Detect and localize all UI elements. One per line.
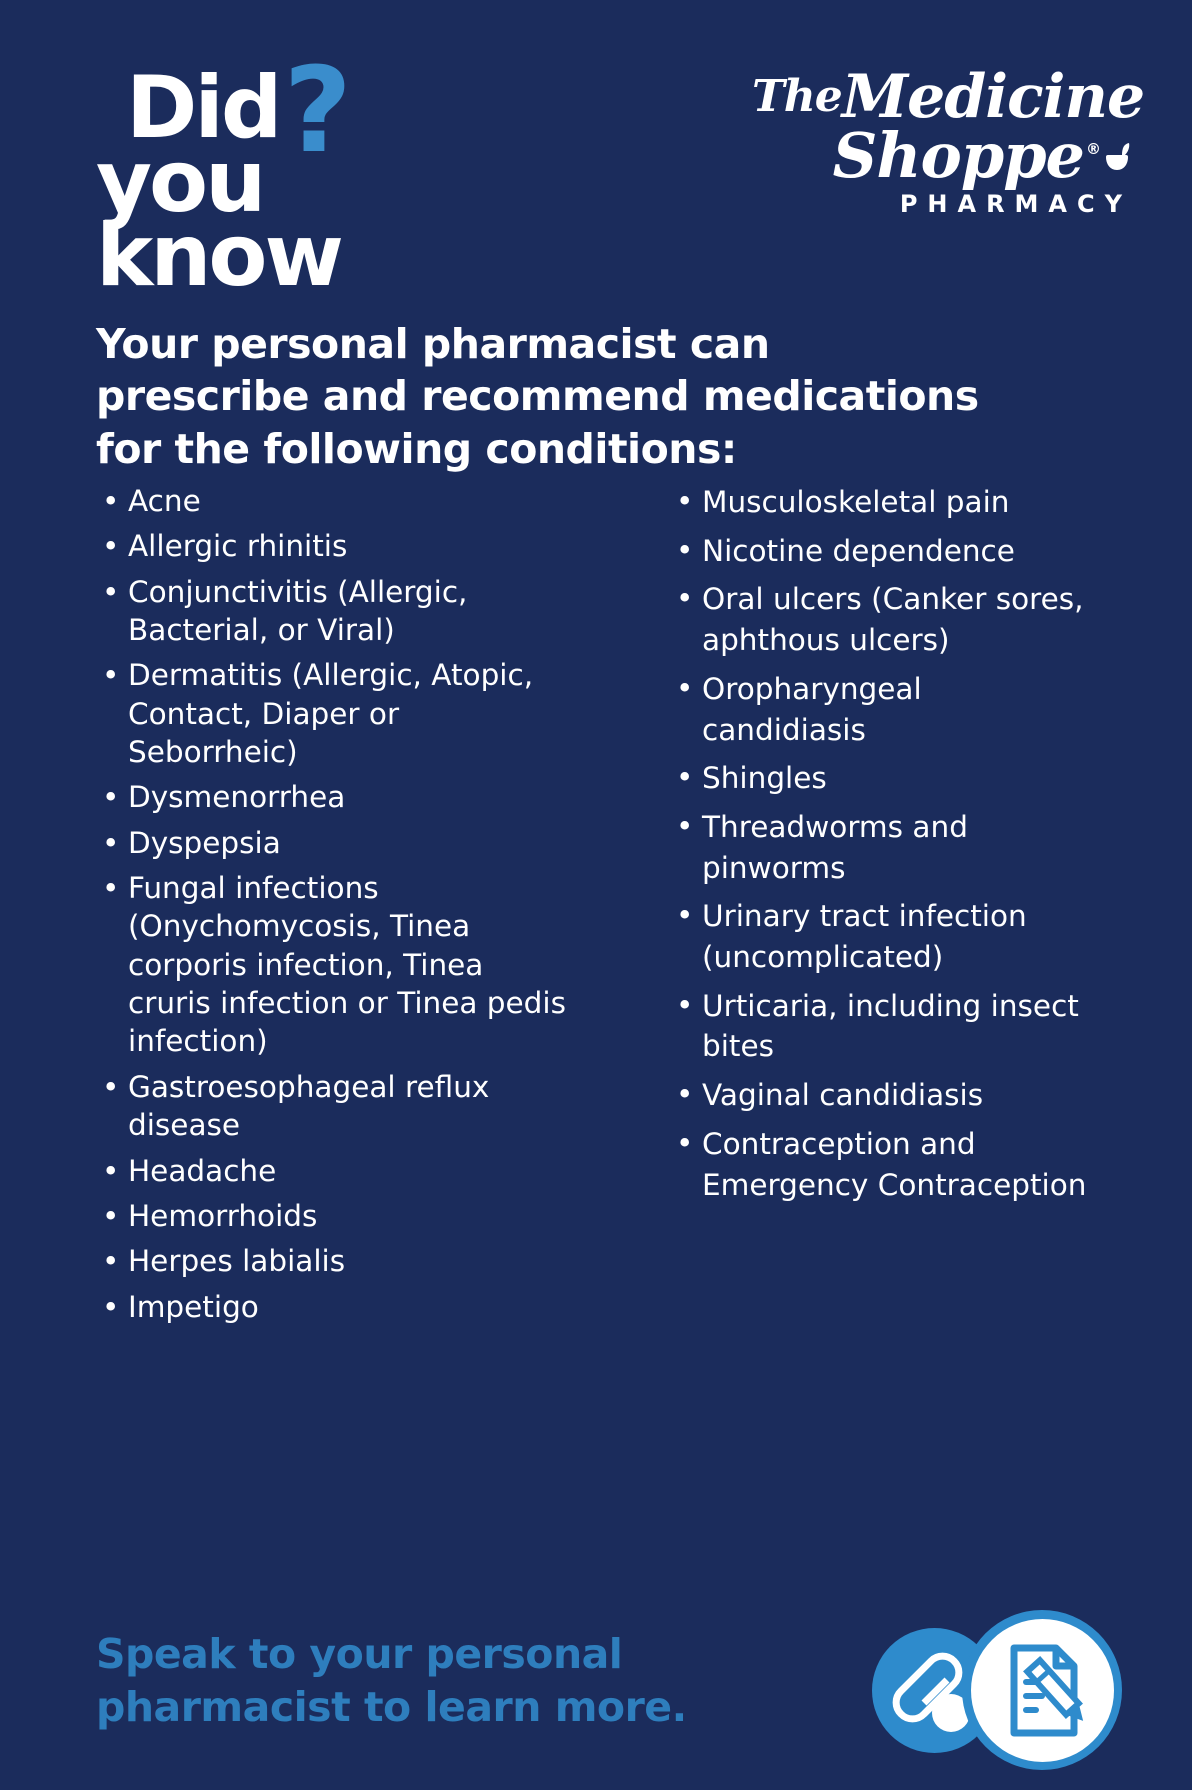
list-item: Threadworms and pinworms bbox=[670, 807, 1094, 888]
footer-icon-group bbox=[872, 1610, 1122, 1770]
list-item: Dermatitis (Allergic, Atopic, Contact, D… bbox=[96, 656, 566, 771]
list-item: Conjunctivitis (Allergic, Bacterial, or … bbox=[96, 573, 566, 650]
conditions-list-right: Musculoskeletal pain Nicotine dependence… bbox=[670, 482, 1094, 1205]
logo-the-text: The bbox=[752, 71, 842, 122]
mortar-and-pestle-icon bbox=[1102, 142, 1132, 180]
list-item: Dyspepsia bbox=[96, 824, 566, 862]
prescription-document-icon bbox=[962, 1610, 1122, 1770]
page-title: Your personal pharmacist can prescribe a… bbox=[96, 318, 996, 475]
list-item: Herpes labialis bbox=[96, 1242, 566, 1280]
list-item: Shingles bbox=[670, 758, 1094, 799]
conditions-left-column: Acne Allergic rhinitis Conjunctivitis (A… bbox=[96, 482, 566, 1333]
call-to-action-text: Speak to your personal pharmacist to lea… bbox=[96, 1628, 756, 1735]
list-item: Vaginal candidiasis bbox=[670, 1075, 1094, 1116]
list-item: Oropharyngeal candidiasis bbox=[670, 669, 1094, 750]
logo-shoppe-text: Shoppe bbox=[833, 127, 1084, 184]
poster-footer: Speak to your personal pharmacist to lea… bbox=[0, 1600, 1192, 1790]
medicine-shoppe-logo: TheMedicine Shoppe ® PHARMACY bbox=[752, 70, 1132, 218]
list-item: Urticaria, including insect bites bbox=[670, 986, 1094, 1067]
list-item: Urinary tract infection (uncomplicated) bbox=[670, 896, 1094, 977]
list-item: Nicotine dependence bbox=[670, 531, 1094, 572]
list-item: Musculoskeletal pain bbox=[670, 482, 1094, 523]
list-item: Acne bbox=[96, 482, 566, 520]
list-item: Contraception and Emergency Contraceptio… bbox=[670, 1124, 1094, 1205]
registered-trademark-icon: ® bbox=[1086, 140, 1101, 158]
logo-bottom-line: Shoppe ® bbox=[752, 127, 1132, 184]
list-item: Oral ulcers (Canker sores, aphthous ulce… bbox=[670, 579, 1094, 660]
poster-header: Did? you know TheMedicine Shoppe ® PHARM… bbox=[0, 0, 1192, 300]
did-you-know-eyebrow: Did? you know bbox=[96, 72, 344, 294]
question-mark-glyph: ? bbox=[283, 41, 347, 179]
list-item: Dysmenorrhea bbox=[96, 778, 566, 816]
conditions-list-left: Acne Allergic rhinitis Conjunctivitis (A… bbox=[96, 482, 566, 1326]
logo-pharmacy-text: PHARMACY bbox=[752, 190, 1132, 218]
list-item: Headache bbox=[96, 1152, 566, 1190]
list-item: Allergic rhinitis bbox=[96, 527, 566, 565]
conditions-columns: Acne Allergic rhinitis Conjunctivitis (A… bbox=[96, 482, 1096, 1333]
list-item: Gastroesophageal reflux disease bbox=[96, 1068, 566, 1145]
conditions-right-column: Musculoskeletal pain Nicotine dependence… bbox=[624, 482, 1094, 1333]
list-item: Impetigo bbox=[96, 1288, 566, 1326]
eyebrow-line-3: know bbox=[96, 220, 344, 294]
list-item: Fungal infections (Onychomycosis, Tinea … bbox=[96, 869, 566, 1061]
list-item: Hemorrhoids bbox=[96, 1197, 566, 1235]
logo-top-line: TheMedicine bbox=[752, 70, 1132, 125]
